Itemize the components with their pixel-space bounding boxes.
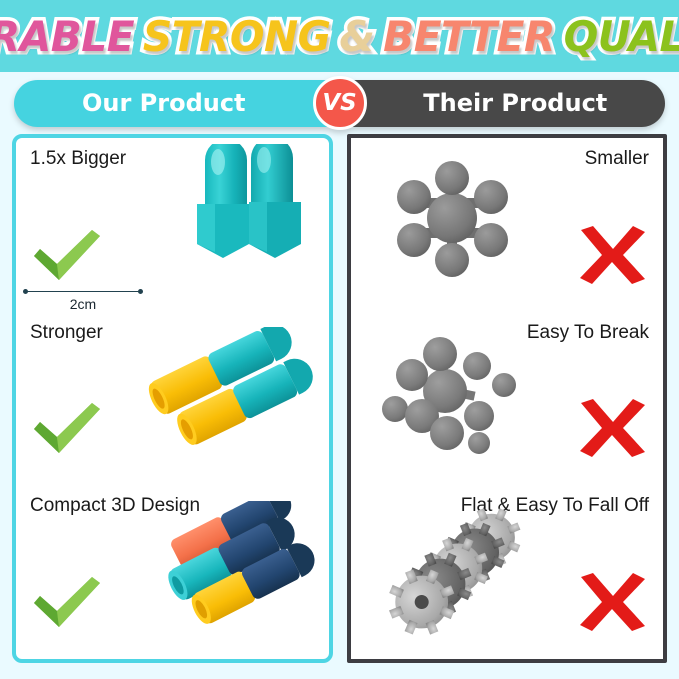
headline: DURABLE STRONG & BETTER QUALITY <box>0 12 679 61</box>
dimension-line <box>24 291 142 292</box>
our-feature-row-1: 1.5x Bigger <box>16 138 329 312</box>
headline-word-better: BETTER <box>383 12 555 61</box>
our-product-tab[interactable]: Our Product <box>14 80 340 127</box>
headline-word-quality: QUALITY <box>564 12 679 61</box>
their-feature-label-2: Easy To Break <box>527 322 649 344</box>
their-feature-row-3: Flat & Easy To Fall Off <box>351 485 664 659</box>
multicolor-sticks-art <box>137 501 317 651</box>
our-feature-label-1: 1.5x Bigger <box>30 148 126 170</box>
header-banner: DURABLE STRONG & BETTER QUALITY <box>0 0 679 72</box>
their-product-panel: Smaller <box>347 134 668 663</box>
their-feature-label-1: Smaller <box>585 148 649 170</box>
our-feature-row-3: Compact 3D Design <box>16 485 329 659</box>
vs-badge: VS <box>313 76 367 130</box>
their-feature-row-1: Smaller <box>351 138 664 312</box>
our-feature-row-2: Stronger <box>16 312 329 486</box>
their-feature-row-2: Easy To Break <box>351 312 664 486</box>
dimension-label: 2cm <box>24 296 142 312</box>
red-cross-icon-3 <box>575 571 649 633</box>
gray-stacked-gears-art <box>367 495 542 645</box>
red-cross-icon-1 <box>575 224 649 286</box>
vs-bar-container: Our Product Their Product VS <box>0 72 679 134</box>
our-product-label: Our Product <box>82 89 246 117</box>
headline-word-strong: STRONG <box>143 12 331 61</box>
our-feature-label-2: Stronger <box>30 322 103 344</box>
gray-broken-balls-art <box>367 321 542 471</box>
vs-bar: Our Product Their Product VS <box>14 80 665 127</box>
vs-label: VS <box>322 90 356 116</box>
teal-yellow-sticks-art <box>137 327 317 477</box>
headline-word-durable: DURABLE <box>0 12 134 61</box>
gray-molecule-art <box>367 148 542 298</box>
headline-word-amp: & <box>339 12 374 61</box>
our-product-panel: 1.5x Bigger <box>12 134 333 663</box>
their-product-tab[interactable]: Their Product <box>340 80 666 127</box>
green-check-icon-1 <box>30 224 104 286</box>
green-check-icon-3 <box>30 571 104 633</box>
red-cross-icon-2 <box>575 397 649 459</box>
comparison-panels: 1.5x Bigger <box>0 134 679 663</box>
green-check-icon-2 <box>30 397 104 459</box>
teal-stick-pair-art <box>185 144 315 269</box>
their-product-label: Their Product <box>423 89 607 117</box>
